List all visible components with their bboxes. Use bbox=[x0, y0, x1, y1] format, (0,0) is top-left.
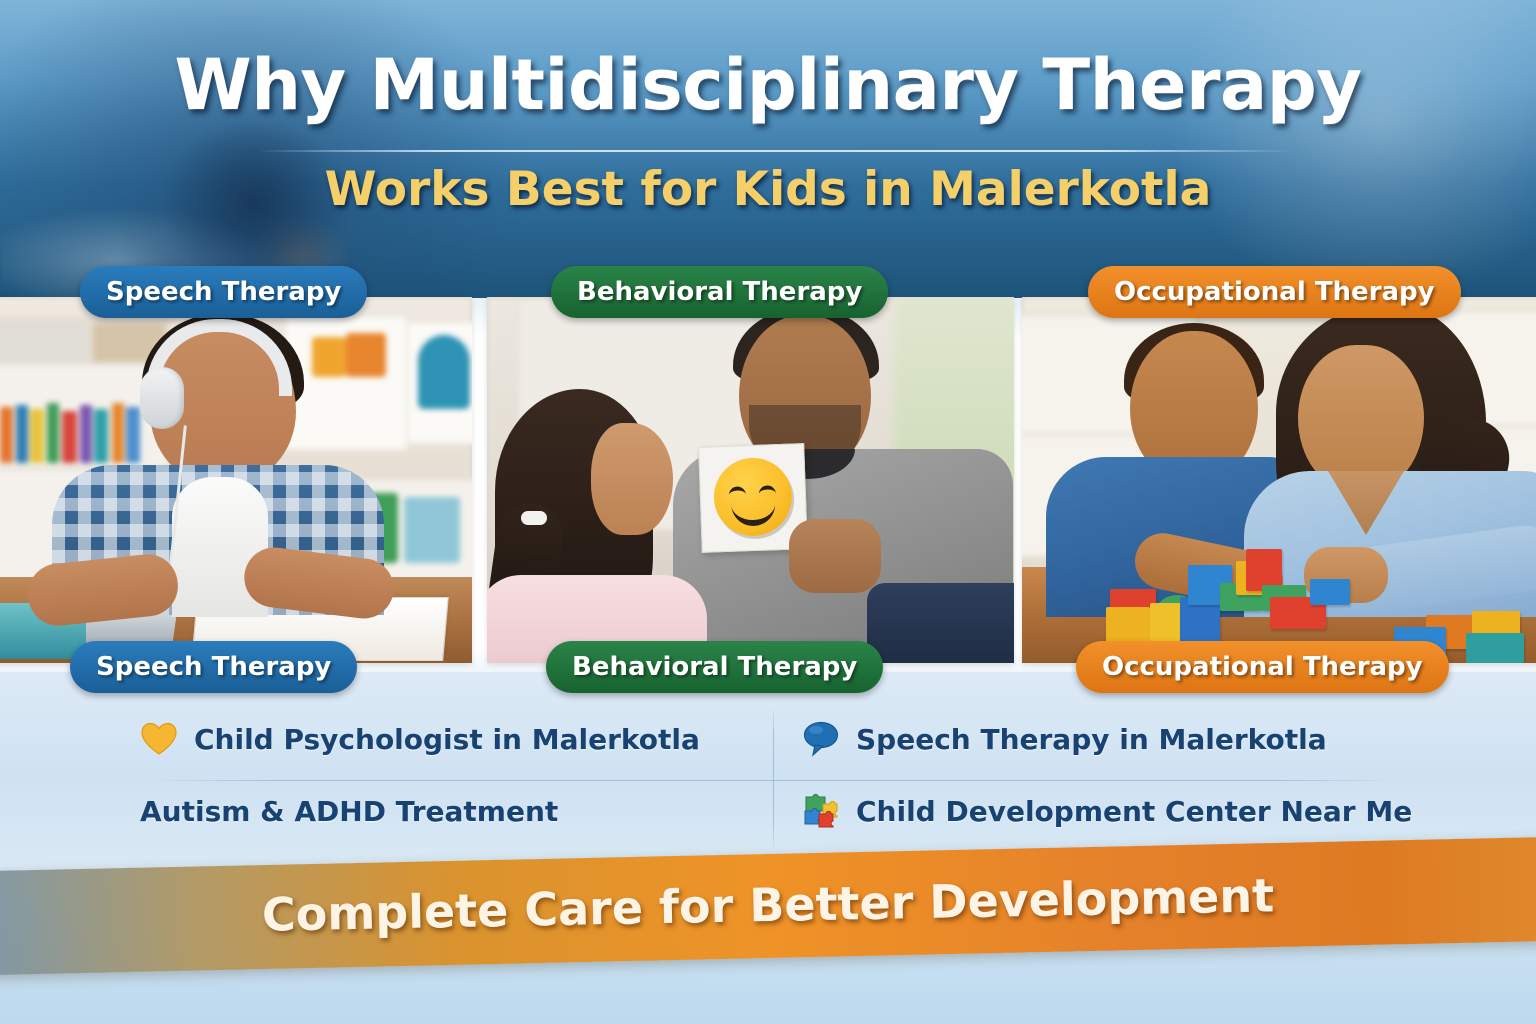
panel-speech-therapy bbox=[0, 297, 472, 663]
keyword-label: Autism & ADHD Treatment bbox=[140, 795, 558, 828]
badge-behavioral-therapy-bottom[interactable]: Behavioral Therapy bbox=[546, 641, 883, 693]
toy-block bbox=[1466, 633, 1524, 663]
smiley-face-icon bbox=[713, 457, 794, 538]
badge-speech-therapy-top[interactable]: Speech Therapy bbox=[80, 266, 367, 318]
speech-therapy-photo bbox=[0, 297, 472, 663]
therapist-hand bbox=[789, 519, 881, 593]
headphones-earcup-icon bbox=[140, 367, 184, 429]
keyword-item-child-development-center[interactable]: Child Development Center Near Me bbox=[802, 780, 1412, 842]
heart-icon bbox=[140, 720, 178, 758]
badge-occupational-therapy-top[interactable]: Occupational Therapy bbox=[1088, 266, 1461, 318]
keyword-item-child-psychologist[interactable]: Child Psychologist in Malerkotla bbox=[140, 708, 700, 770]
therapist-jeans bbox=[867, 583, 1014, 663]
keyword-item-speech-therapy[interactable]: Speech Therapy in Malerkotla bbox=[802, 708, 1327, 770]
occupational-therapy-photo bbox=[1022, 297, 1536, 663]
photo-panel-row bbox=[0, 297, 1536, 663]
badge-behavioral-therapy-top[interactable]: Behavioral Therapy bbox=[551, 266, 888, 318]
child-hair-tie bbox=[521, 511, 547, 525]
title-divider-rule bbox=[256, 150, 1292, 152]
keyword-label: Child Development Center Near Me bbox=[856, 795, 1412, 828]
panel-occupational-therapy bbox=[1022, 297, 1536, 663]
badge-speech-therapy-bottom[interactable]: Speech Therapy bbox=[70, 641, 357, 693]
badge-occupational-therapy-bottom[interactable]: Occupational Therapy bbox=[1076, 641, 1449, 693]
speech-bubble-icon bbox=[802, 720, 840, 758]
child-face bbox=[591, 423, 673, 535]
title-block: Why Multidisciplinary Therapy bbox=[0, 44, 1536, 126]
toy-block bbox=[1310, 579, 1350, 605]
keyword-item-autism-adhd[interactable]: Autism & ADHD Treatment bbox=[140, 780, 558, 842]
behavioral-therapy-photo bbox=[487, 297, 1014, 663]
panel-behavioral-therapy bbox=[487, 297, 1014, 663]
therapist-face bbox=[1298, 345, 1424, 491]
keyword-grid: Child Psychologist in Malerkotla Speech … bbox=[140, 708, 1400, 850]
page-title: Why Multidisciplinary Therapy bbox=[0, 44, 1536, 126]
keyword-label: Child Psychologist in Malerkotla bbox=[194, 723, 700, 756]
keyword-label: Speech Therapy in Malerkotla bbox=[856, 723, 1327, 756]
puzzle-piece-icon bbox=[802, 792, 840, 830]
infographic-poster: Why Multidisciplinary Therapy Works Best… bbox=[0, 0, 1536, 1024]
page-subtitle: Works Best for Kids in Malerkotla bbox=[0, 160, 1536, 220]
